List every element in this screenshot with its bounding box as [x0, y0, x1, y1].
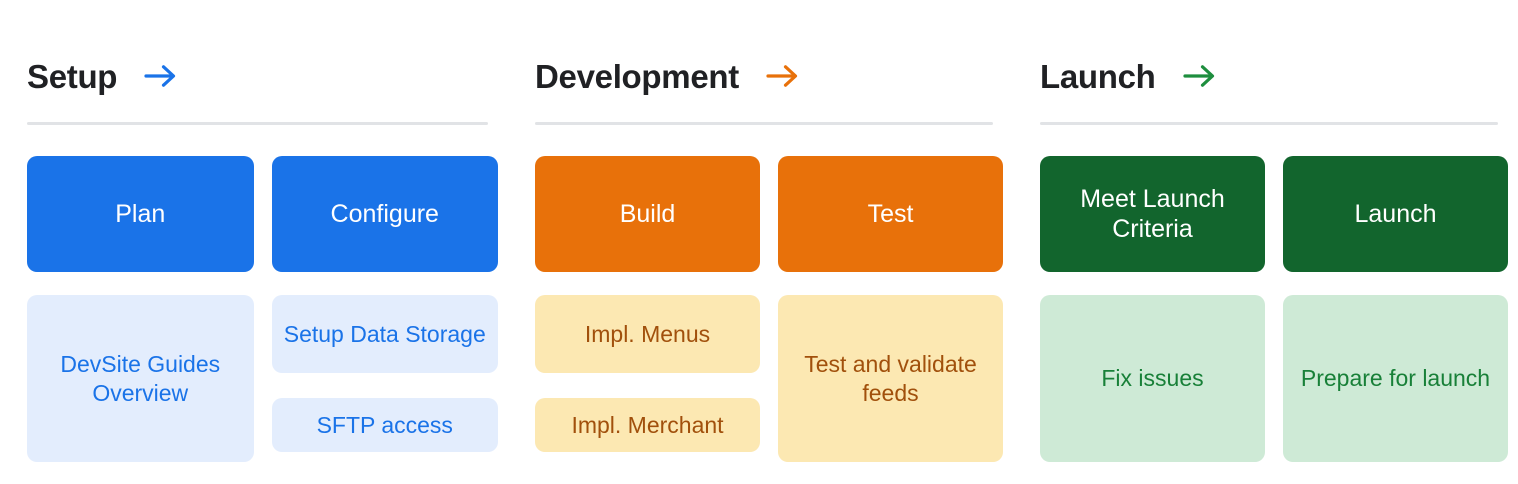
phase-title-setup: Setup	[27, 60, 117, 93]
subtask-stack-meet-launch-criteria: Fix issues	[1040, 295, 1265, 462]
arrow-right-icon	[1182, 61, 1218, 91]
subtask-card-setup-data-storage[interactable]: Setup Data Storage	[272, 295, 499, 373]
arrow-right-icon	[765, 61, 801, 91]
step-card-build[interactable]: Build	[535, 156, 760, 272]
phase-divider-launch	[1040, 122, 1498, 125]
phase-column-development: DevelopmentBuildTestImpl. MenusImpl. Mer…	[508, 0, 1013, 484]
arrow-right-icon	[143, 61, 179, 91]
subtask-card-prepare-for-launch[interactable]: Prepare for launch	[1283, 295, 1508, 462]
subtask-stack-launch: Prepare for launch	[1283, 295, 1508, 462]
phase-divider-setup	[27, 122, 488, 125]
step-card-launch[interactable]: Launch	[1283, 156, 1508, 272]
step-card-test[interactable]: Test	[778, 156, 1003, 272]
primary-step-row-setup: PlanConfigure	[27, 156, 498, 272]
subtask-card-fix-issues[interactable]: Fix issues	[1040, 295, 1265, 462]
phase-header-development: Development	[535, 0, 1003, 122]
subtask-row-launch: Fix issuesPrepare for launch	[1040, 295, 1508, 462]
primary-step-row-launch: Meet Launch CriteriaLaunch	[1040, 156, 1508, 272]
subtask-card-devsite-guides-overview[interactable]: DevSite Guides Overview	[27, 295, 254, 462]
phase-header-setup: Setup	[27, 0, 498, 122]
lifecycle-board: SetupPlanConfigureDevSite Guides Overvie…	[0, 0, 1518, 484]
phase-column-launch: LaunchMeet Launch CriteriaLaunchFix issu…	[1013, 0, 1518, 484]
subtask-stack-test: Test and validate feeds	[778, 295, 1003, 462]
phase-divider-development	[535, 122, 993, 125]
subtask-row-development: Impl. MenusImpl. MerchantTest and valida…	[535, 295, 1003, 462]
subtask-stack-plan: DevSite Guides Overview	[27, 295, 254, 462]
phase-header-launch: Launch	[1040, 0, 1508, 122]
subtask-stack-configure: Setup Data StorageSFTP access	[272, 295, 499, 462]
phase-title-development: Development	[535, 60, 739, 93]
primary-step-row-development: BuildTest	[535, 156, 1003, 272]
step-card-configure[interactable]: Configure	[272, 156, 499, 272]
subtask-card-impl-merchant[interactable]: Impl. Merchant	[535, 398, 760, 452]
phase-column-setup: SetupPlanConfigureDevSite Guides Overvie…	[0, 0, 508, 484]
subtask-stack-build: Impl. MenusImpl. Merchant	[535, 295, 760, 462]
subtask-card-test-and-validate-feeds[interactable]: Test and validate feeds	[778, 295, 1003, 462]
step-card-plan[interactable]: Plan	[27, 156, 254, 272]
step-card-meet-launch-criteria[interactable]: Meet Launch Criteria	[1040, 156, 1265, 272]
subtask-card-impl-menus[interactable]: Impl. Menus	[535, 295, 760, 373]
subtask-row-setup: DevSite Guides OverviewSetup Data Storag…	[27, 295, 498, 462]
subtask-card-sftp-access[interactable]: SFTP access	[272, 398, 499, 452]
phase-title-launch: Launch	[1040, 60, 1156, 93]
